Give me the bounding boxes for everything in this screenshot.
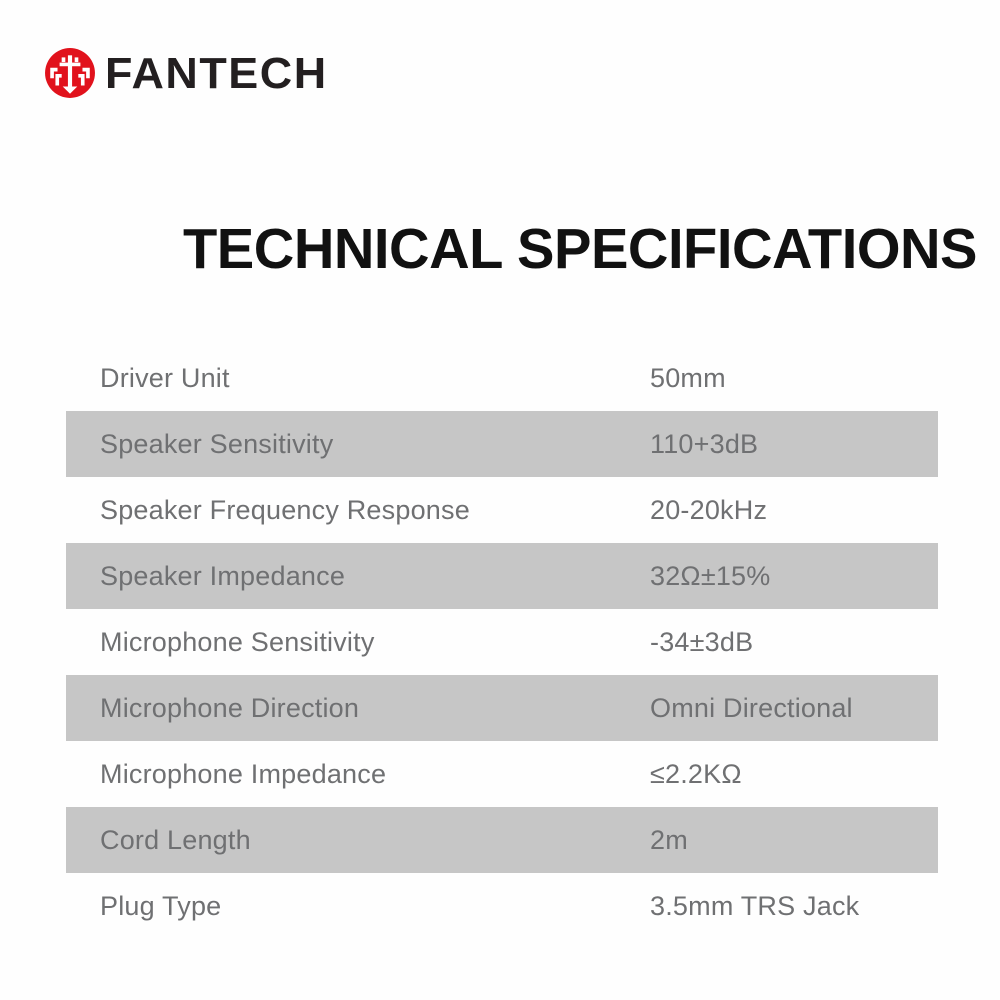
spec-value: -34±3dB	[650, 627, 753, 657]
spec-label: Speaker Impedance	[100, 561, 345, 591]
spec-sheet-page: FANTECH TECHNICAL SPECIFICATIONS Driver …	[0, 0, 1000, 1000]
table-row: Plug Type3.5mm TRS Jack	[66, 873, 938, 939]
table-row: Microphone DirectionOmni Directional	[66, 675, 938, 741]
table-row: Microphone Impedance≤2.2KΩ	[66, 741, 938, 807]
spec-label: Speaker Sensitivity	[100, 429, 333, 459]
spec-value: ≤2.2KΩ	[650, 759, 742, 789]
table-row: Speaker Frequency Response20-20kHz	[66, 477, 938, 543]
table-row: Cord Length2m	[66, 807, 938, 873]
table-row: Speaker Impedance32Ω±15%	[66, 543, 938, 609]
brand-wordmark: FANTECH	[105, 52, 328, 96]
spec-label: Speaker Frequency Response	[100, 495, 470, 525]
spec-value: 110+3dB	[650, 429, 758, 459]
table-row: Driver Unit50mm	[66, 345, 938, 411]
spec-value: 2m	[650, 825, 688, 855]
spec-value: 20-20kHz	[650, 495, 767, 525]
fantech-emblem-icon	[44, 47, 96, 99]
spec-label: Microphone Direction	[100, 693, 359, 723]
spec-label: Microphone Sensitivity	[100, 627, 375, 657]
spec-label: Microphone Impedance	[100, 759, 386, 789]
table-row: Microphone Sensitivity-34±3dB	[66, 609, 938, 675]
spec-label: Cord Length	[100, 825, 251, 855]
table-row: Speaker Sensitivity110+3dB	[66, 411, 938, 477]
specifications-table: Driver Unit50mmSpeaker Sensitivity110+3d…	[66, 345, 938, 939]
spec-value: 3.5mm TRS Jack	[650, 891, 859, 921]
spec-value: 32Ω±15%	[650, 561, 770, 591]
page-title: TECHNICAL SPECIFICATIONS	[183, 218, 977, 280]
spec-value: Omni Directional	[650, 693, 853, 723]
spec-value: 50mm	[650, 363, 726, 393]
spec-label: Plug Type	[100, 891, 221, 921]
brand-logo: FANTECH	[44, 45, 323, 101]
spec-label: Driver Unit	[100, 363, 230, 393]
